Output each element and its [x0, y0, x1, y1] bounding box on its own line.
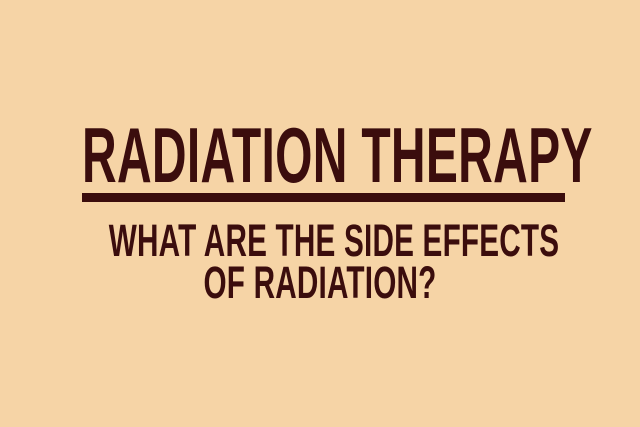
- subtitle-line-1: WHAT ARE THE SIDE EFFECTS: [109, 220, 531, 262]
- subtitle: WHAT ARE THE SIDE EFFECTS OF RADIATION?: [0, 220, 640, 304]
- subtitle-line-2: OF RADIATION?: [109, 262, 531, 304]
- title-divider: [82, 193, 565, 202]
- title-card-slide: RADIATION THERAPY WHAT ARE THE SIDE EFFE…: [0, 0, 640, 427]
- page-title: RADIATION THERAPY: [82, 118, 564, 192]
